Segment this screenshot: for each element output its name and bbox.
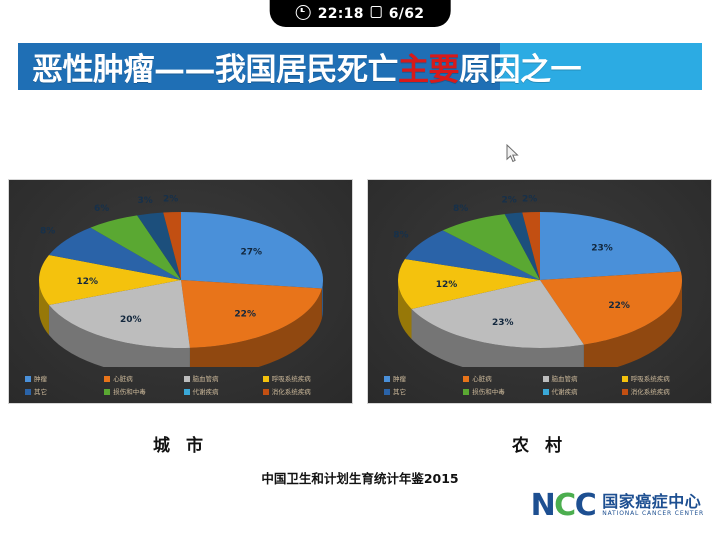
ncc-monogram: NCC [531, 491, 596, 521]
legend-swatch [25, 389, 31, 395]
ncc-wordmark: 国家癌症中心 NATIONAL CANCER CENTER [602, 494, 704, 517]
status-notch-pill: 22:18 6/62 [270, 0, 451, 27]
legend-label: 脑血管病 [552, 376, 578, 383]
legend-swatch [384, 389, 390, 395]
pie-slice-value-label: 2% [163, 194, 178, 204]
legend-swatch [184, 376, 190, 382]
legend-item: 肿瘤 [384, 376, 461, 383]
pie-chart-rural-svg: 23%22%23%12%8%8%2%2% [375, 182, 705, 367]
title-highlight: 主要 [398, 52, 459, 88]
slide-content: 恶性肿瘤——我国居民死亡主要原因之一 27%22%20%12%8%6%3%2% … [0, 28, 720, 537]
legend-swatch [463, 389, 469, 395]
mouse-cursor-icon [506, 144, 520, 164]
legend-item: 脑血管病 [184, 376, 261, 383]
legend-label: 脑血管病 [193, 376, 219, 383]
legend-label: 代谢疾病 [552, 389, 578, 396]
legend-swatch [263, 389, 269, 395]
pie-chart-rural: 23%22%23%12%8%8%2%2% 肿瘤心脏病脑血管病呼吸系统疾病其它损伤… [367, 179, 712, 404]
legend-item: 呼吸系统疾病 [622, 376, 699, 383]
legend-item: 呼吸系统疾病 [263, 376, 340, 383]
status-bar: 22:18 6/62 [0, 0, 720, 28]
pie-slice-value-label: 6% [93, 204, 108, 214]
pie-slice-value-label: 27% [240, 247, 262, 257]
legend-label: 损伤和中毒 [472, 389, 505, 396]
pie-slice-value-label: 3% [137, 196, 152, 206]
legend-swatch [25, 376, 31, 382]
legend-label: 肿瘤 [393, 376, 406, 383]
legend-item: 其它 [384, 389, 461, 396]
pie-slice-value-label: 22% [234, 310, 256, 320]
title-suffix: 原因之一 [459, 52, 581, 88]
legend-item: 心脏病 [463, 376, 540, 383]
pie-slice-value-label: 22% [608, 301, 630, 311]
legend-label: 损伤和中毒 [113, 389, 146, 396]
legend-swatch [622, 376, 628, 382]
legend-item: 脑血管病 [543, 376, 620, 383]
ncc-letter-n: N [531, 488, 555, 523]
status-time: 22:18 [318, 6, 364, 22]
clock-icon [296, 5, 311, 23]
source-note: 中国卫生和计划生育统计年鉴2015 [0, 468, 720, 487]
page-indicator: 6/62 [389, 6, 425, 22]
page-title: 恶性肿瘤——我国居民死亡主要原因之一 [18, 44, 581, 89]
pie-slice-value-label: 12% [76, 277, 98, 287]
legend-label: 其它 [34, 389, 47, 396]
legend-item: 消化系统疾病 [622, 389, 699, 396]
legend-item: 肿瘤 [25, 376, 102, 383]
legend-label: 心脏病 [113, 376, 133, 383]
pie-slice-value-label: 2% [501, 196, 516, 206]
legend-label: 其它 [393, 389, 406, 396]
pie-chart-urban: 27%22%20%12%8%6%3%2% 肿瘤心脏病脑血管病呼吸系统疾病其它损伤… [8, 179, 353, 404]
legend-item: 损伤和中毒 [104, 389, 181, 396]
legend-label: 代谢疾病 [193, 389, 219, 396]
legend-item: 代谢疾病 [184, 389, 261, 396]
legend-label: 消化系统疾病 [272, 389, 311, 396]
legend-swatch [263, 376, 269, 382]
title-prefix: 恶性肿瘤——我国居民死亡 [32, 52, 398, 88]
legend-swatch [104, 376, 110, 382]
legend-swatch [184, 389, 190, 395]
legend-urban: 肿瘤心脏病脑血管病呼吸系统疾病其它损伤和中毒代谢疾病消化系统疾病 [25, 376, 340, 395]
ncc-letter-c1: C [554, 488, 575, 523]
pie-slice-value-label: 20% [120, 315, 142, 325]
legend-item: 损伤和中毒 [463, 389, 540, 396]
legend-label: 肿瘤 [34, 376, 47, 383]
pie-slice-value-label: 8% [452, 204, 467, 214]
legend-swatch [384, 376, 390, 382]
pie-slice-value-label: 23% [591, 243, 613, 253]
ncc-name-en: NATIONAL CANCER CENTER [602, 511, 704, 517]
pie-slice-value-label: 12% [435, 280, 457, 290]
ncc-logo: NCC 国家癌症中心 NATIONAL CANCER CENTER [531, 491, 704, 521]
ncc-name-cn: 国家癌症中心 [602, 494, 704, 511]
pie-slice-value-label: 8% [40, 227, 55, 237]
pie-slice-value-label: 2% [522, 194, 537, 204]
legend-item: 代谢疾病 [543, 389, 620, 396]
legend-item: 心脏病 [104, 376, 181, 383]
legend-item: 其它 [25, 389, 102, 396]
chart-caption-urban: 城 市 [8, 431, 353, 456]
legend-swatch [622, 389, 628, 395]
legend-item: 消化系统疾病 [263, 389, 340, 396]
pie-slice-value-label: 23% [492, 318, 514, 328]
pie-chart-urban-svg: 27%22%20%12%8%6%3%2% [16, 182, 346, 367]
legend-swatch [463, 376, 469, 382]
legend-label: 呼吸系统疾病 [631, 376, 670, 383]
pie-slice-value-label: 8% [393, 231, 408, 241]
legend-label: 心脏病 [472, 376, 492, 383]
chart-caption-rural: 农 村 [367, 431, 712, 456]
legend-swatch [104, 389, 110, 395]
legend-label: 呼吸系统疾病 [272, 376, 311, 383]
legend-swatch [543, 389, 549, 395]
page-icon [371, 6, 382, 21]
legend-label: 消化系统疾病 [631, 389, 670, 396]
title-banner: 恶性肿瘤——我国居民死亡主要原因之一 [18, 43, 702, 90]
legend-swatch [543, 376, 549, 382]
ncc-letter-c2: C [575, 488, 596, 523]
legend-rural: 肿瘤心脏病脑血管病呼吸系统疾病其它损伤和中毒代谢疾病消化系统疾病 [384, 376, 699, 395]
